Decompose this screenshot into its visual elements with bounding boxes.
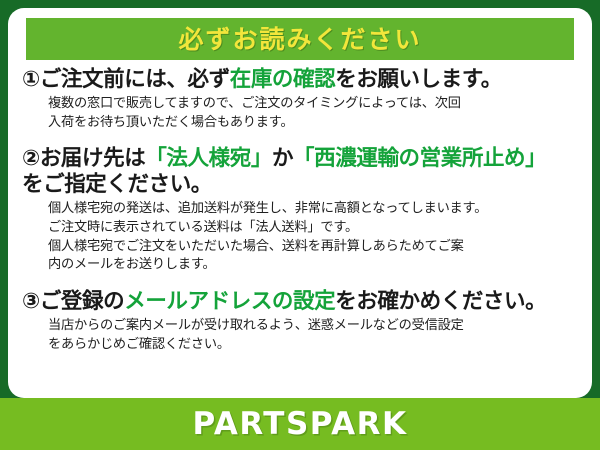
notice-card: 必ずお読みください ①ご注文前には、必ず在庫の確認をお願いします。 複数の窓口で… [0,0,600,450]
notice-item-3-heading-post: をお確かめください。 [335,289,546,314]
notice-item-3-body: 当店からのご案内メールが受け取れるよう、迷惑メールなどの受信設定 をあらかじめご… [48,317,578,354]
notice-item-2-heading-pre: お届け先は [40,146,146,171]
notice-item-3: ③ご登録のメールアドレスの設定をお確かめください。 当店からのご案内メールが受け… [8,289,592,355]
notice-item-2-marker: ② [22,146,40,171]
notice-item-2-heading-highlight-2: 「西濃運輸の営業所止め」 [293,146,546,171]
notice-item-3-heading-highlight: メールアドレスの設定 [124,289,335,314]
brand-logo-text: PARTSPARK [192,409,407,440]
notice-item-1-marker: ① [22,67,40,92]
notice-item-1-heading-post: をお願いします。 [335,67,502,92]
notice-item-2-body: 個人様宅宛の発送は、追加送料が発生し、非常に高額となってしまいます。 ご注文時に… [48,200,578,275]
notice-item-1: ①ご注文前には、必ず在庫の確認をお願いします。 複数の窓口で販売してますので、ご… [8,67,592,133]
notice-item-1-heading-pre: ご注文前には、必ず [40,67,230,92]
notice-item-3-heading: ③ご登録のメールアドレスの設定をお確かめください。 [22,289,578,315]
notice-banner: 必ずお読みください [26,18,574,60]
notice-item-1-heading: ①ご注文前には、必ず在庫の確認をお願いします。 [22,67,578,93]
banner-title: 必ずお読みください [178,27,421,52]
brand-footer: PARTSPARK [0,398,600,450]
notice-item-2-heading-post: をご指定ください。 [22,172,212,198]
notice-item-2-heading-highlight: 「法人様宛」 [145,146,272,171]
notice-item-1-body: 複数の窓口で販売してますので、ご注文のタイミングによっては、次回 入荷をお待ち頂… [48,95,578,132]
notice-item-1-heading-highlight: 在庫の確認 [230,67,336,92]
notice-panel: 必ずお読みください ①ご注文前には、必ず在庫の確認をお願いします。 複数の窓口で… [8,8,592,398]
notice-item-3-marker: ③ [22,289,40,314]
notice-item-3-heading-pre: ご登録の [40,289,124,314]
notice-item-2-heading: ②お届け先は「法人様宛」か「西濃運輸の営業所止め」をご指定ください。 [22,146,578,198]
notice-item-2-heading-mid: か [272,146,293,171]
notice-item-2: ②お届け先は「法人様宛」か「西濃運輸の営業所止め」をご指定ください。 個人様宅宛… [8,146,592,275]
notice-items-list: ①ご注文前には、必ず在庫の確認をお願いします。 複数の窓口で販売してますので、ご… [8,66,592,355]
